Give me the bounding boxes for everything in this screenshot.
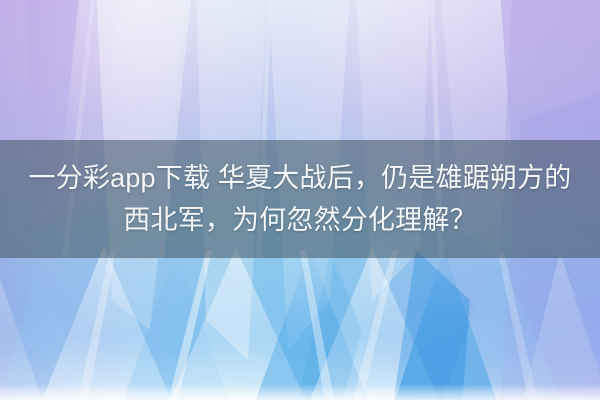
article-banner: 一分彩app下载 华夏大战后，仍是雄踞朔方的 西北军，为何忽然分化理解？ bbox=[0, 0, 600, 400]
banner-title-line-1: 一分彩app下载 华夏大战后，仍是雄踞朔方的 bbox=[18, 157, 582, 199]
title-band: 一分彩app下载 华夏大战后，仍是雄踞朔方的 西北军，为何忽然分化理解？ bbox=[0, 140, 600, 258]
banner-title-line-2: 西北军，为何忽然分化理解？ bbox=[18, 199, 582, 241]
